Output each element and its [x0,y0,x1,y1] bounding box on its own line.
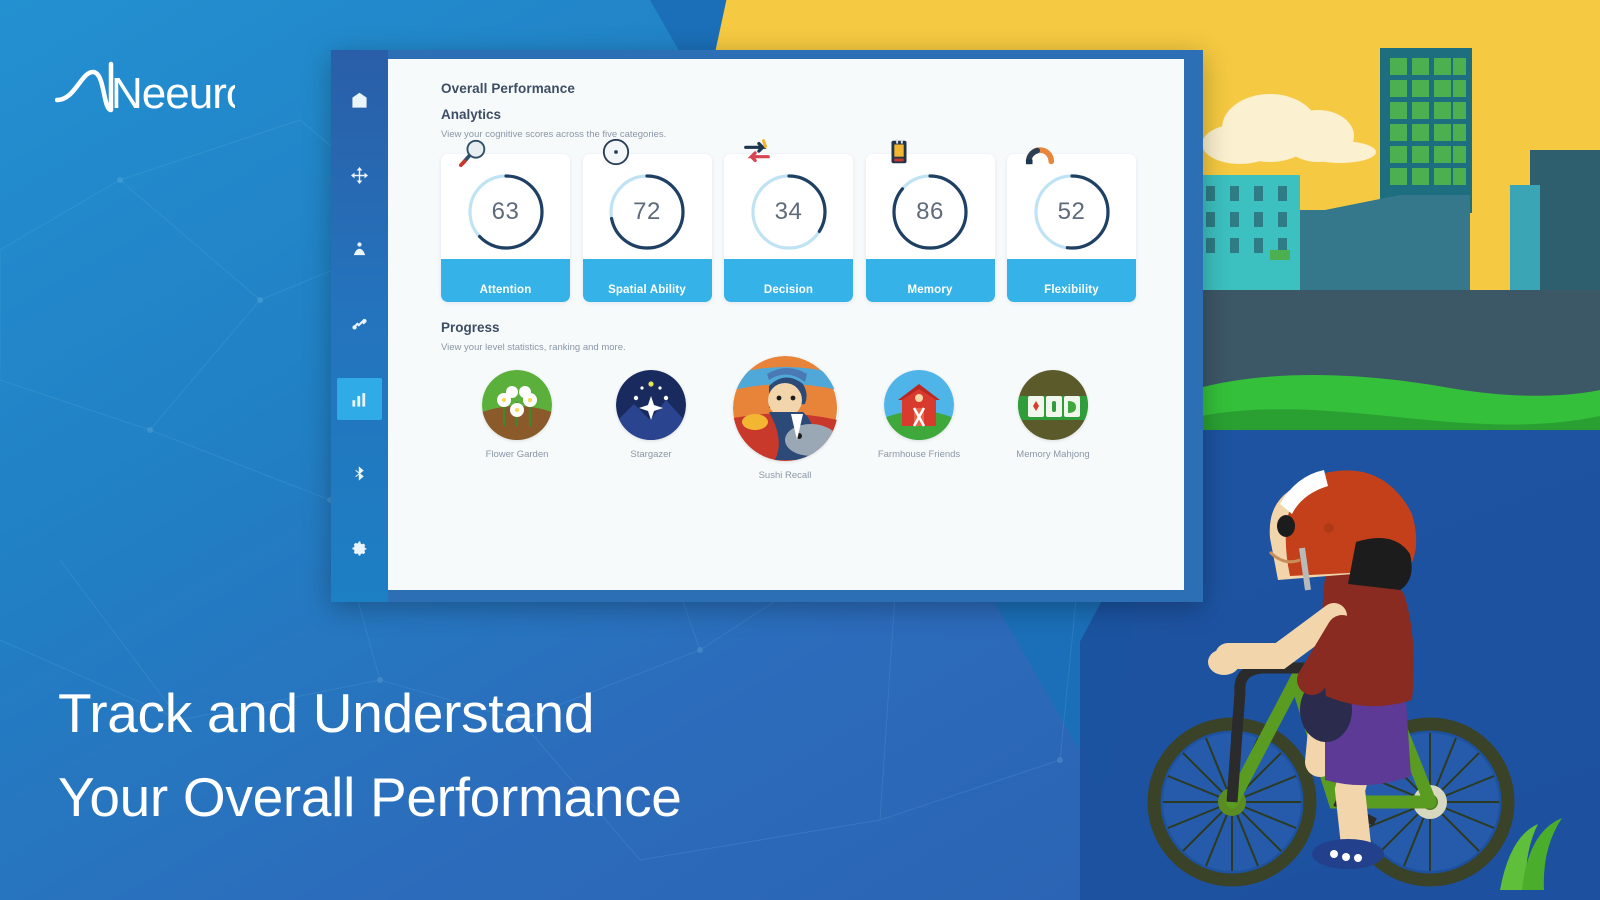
category-bar: Memory [866,259,995,302]
chart-icon [351,391,368,408]
app-sidebar [331,50,388,602]
progress-section-header: Progress View your level statistics, ran… [441,320,1156,353]
meditation-icon [351,241,368,258]
neeuro-logo: Neeuro [55,56,235,118]
score-card-decision[interactable]: 34 Decision [724,154,853,302]
bluetooth-icon [351,465,368,482]
flower-garden-icon [482,370,552,440]
sushi-recall-icon [733,356,838,461]
game-name: Sushi Recall [731,470,839,481]
score-card-memory[interactable]: 86 Memory [866,154,995,302]
headline: Track and Understand Your Overall Perfor… [58,672,898,839]
progress-description: View your level statistics, ranking and … [441,342,1156,353]
arc-flex-icon [1025,137,1055,167]
game-item-sushi-recall[interactable]: Sushi Recall [731,370,839,481]
gear-icon [351,540,368,557]
notebook-icon [884,137,914,167]
category-bar: Spatial Ability [583,259,712,302]
score-ring: 86 [889,171,971,253]
score-ring: 52 [1031,171,1113,253]
category-label: Memory [908,284,953,296]
score-ring: 63 [465,171,547,253]
score-card-list: 63 Attention 72 [441,154,1156,302]
category-label: Spatial Ability [608,284,686,296]
progress-heading: Progress [441,320,1156,335]
game-name: Farmhouse Friends [865,449,973,460]
analytics-heading: Analytics [441,107,1156,122]
sidebar-item-bluetooth[interactable] [337,453,382,495]
score-value: 86 [889,171,971,253]
arrows-decision-icon [742,137,772,167]
game-item-memory-mahjong[interactable]: Memory Mahjong [999,370,1107,460]
logo-wordmark: Neeuro [111,69,235,118]
sidebar-item-home[interactable] [337,80,382,122]
app-window: Overall Performance Analytics View your … [331,50,1203,602]
category-label: Attention [480,284,532,296]
score-card-attention[interactable]: 63 Attention [441,154,570,302]
sidebar-item-analytics[interactable] [337,378,382,420]
game-name: Flower Garden [463,449,571,460]
score-ring: 34 [748,171,830,253]
game-item-flower-garden[interactable]: Flower Garden [463,370,571,460]
category-label: Decision [764,284,813,296]
move-arrows-icon [351,167,368,184]
game-list: Flower Garden Stargazer [441,370,1156,481]
headline-line-1: Track and Understand [58,672,898,756]
game-item-stargazer[interactable]: Stargazer [597,370,705,460]
headline-line-2: Your Overall Performance [58,756,898,840]
sidebar-item-meditate[interactable] [337,229,382,271]
sidebar-item-games[interactable] [337,155,382,197]
grass-tuft [1480,800,1590,890]
game-item-farmhouse-friends[interactable]: Farmhouse Friends [865,370,973,460]
game-name: Memory Mahjong [999,449,1107,460]
main-content: Overall Performance Analytics View your … [388,59,1184,590]
category-bar: Attention [441,259,570,302]
magnifier-icon [459,137,489,167]
score-card-spatial-ability[interactable]: 72 Spatial Ability [583,154,712,302]
sidebar-item-fitness[interactable] [337,304,382,346]
compass-icon [601,137,631,167]
score-value: 72 [606,171,688,253]
page-title: Overall Performance [441,81,1156,96]
home-icon [351,92,368,109]
score-value: 34 [748,171,830,253]
category-bar: Flexibility [1007,259,1136,302]
score-ring: 72 [606,171,688,253]
score-value: 63 [465,171,547,253]
category-label: Flexibility [1044,284,1099,296]
score-value: 52 [1031,171,1113,253]
score-card-flexibility[interactable]: 52 Flexibility [1007,154,1136,302]
category-bar: Decision [724,259,853,302]
memory-mahjong-icon [1018,370,1088,440]
brain-fitness-icon [351,316,368,333]
game-name: Stargazer [597,449,705,460]
farmhouse-friends-icon [884,370,954,440]
stargazer-icon [616,370,686,440]
sidebar-item-settings[interactable] [337,527,382,569]
